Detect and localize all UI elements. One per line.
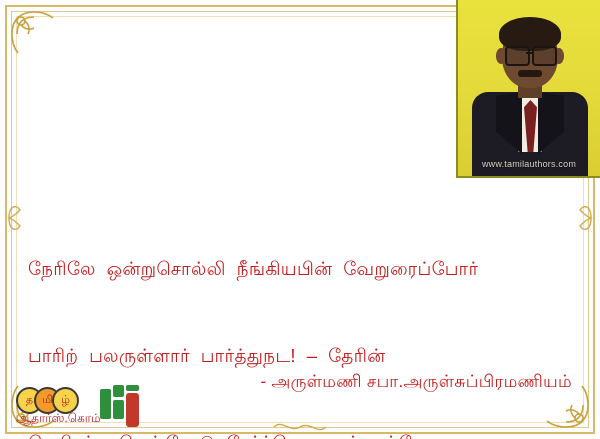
logo-letter-3: ழ் [52, 387, 79, 414]
logo-mark-icon [100, 385, 140, 429]
photo-watermark: www.tamilauthors.com [458, 159, 600, 169]
author-photo: www.tamilauthors.com [456, 0, 600, 178]
verse-line-2: பாரிற் பலருள்ளார் பார்த்துநட! – தேரின் [28, 341, 572, 370]
verse-line-1: நேரிலே ஒன்றுசொல்லி நீங்கியபின் வேறுரைப்ப… [28, 254, 572, 283]
photo-background [458, 0, 600, 176]
portrait-eyeglass-bridge [526, 52, 532, 54]
portrait-moustache [518, 70, 542, 77]
portrait-eyeglass-right [532, 46, 557, 66]
site-logo[interactable]: த மி ழ் ஆதார்ஸ்.கொம் [16, 385, 166, 433]
quote-card: www.tamilauthors.com நேரிலே ஒன்றுசொல்லி … [0, 0, 600, 439]
portrait-eyeglass-left [505, 46, 530, 66]
logo-subtitle: ஆதார்ஸ்.கொம் [16, 411, 101, 427]
